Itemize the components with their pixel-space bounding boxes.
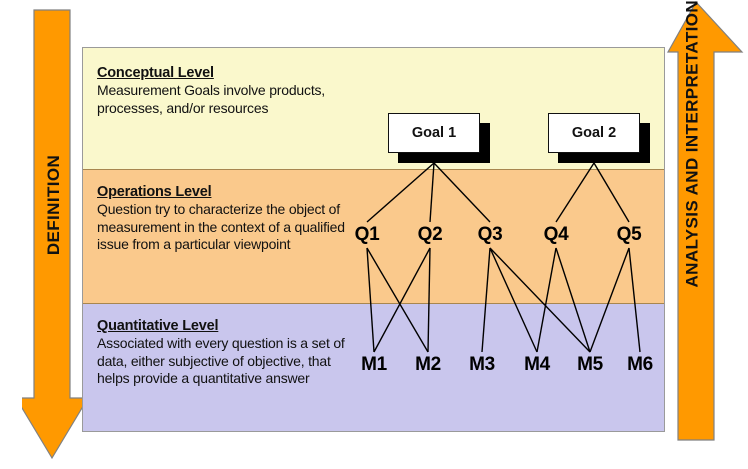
operations-level-body: Question try to characterize the object …: [97, 201, 352, 254]
quantitative-level-title: Quantitative Level: [97, 318, 352, 334]
metric-node-m2[interactable]: M2: [415, 354, 441, 376]
operations-level-text: Operations Level Question try to charact…: [97, 184, 352, 254]
question-node-q4[interactable]: Q4: [544, 224, 569, 246]
metric-node-m6[interactable]: M6: [627, 354, 653, 376]
metric-node-m3[interactable]: M3: [469, 354, 495, 376]
gqm-diagram-canvas: DEFINITION ANALYSIS AND INTERPRETATION C…: [0, 0, 748, 469]
definition-arrow-label: DEFINITION: [44, 150, 64, 260]
goal-1-box[interactable]: Goal 1: [388, 113, 480, 153]
metric-node-m4[interactable]: M4: [524, 354, 550, 376]
quantitative-level-text: Quantitative Level Associated with every…: [97, 318, 352, 388]
metric-node-m5[interactable]: M5: [577, 354, 603, 376]
question-node-q2[interactable]: Q2: [418, 224, 443, 246]
metric-node-m1[interactable]: M1: [361, 354, 387, 376]
goal-2-box[interactable]: Goal 2: [548, 113, 640, 153]
operations-level-title: Operations Level: [97, 184, 352, 200]
conceptual-level-body: Measurement Goals involve products, proc…: [97, 82, 352, 117]
goal-1-label: Goal 1: [412, 125, 456, 141]
question-node-q1[interactable]: Q1: [355, 224, 380, 246]
conceptual-level-title: Conceptual Level: [97, 65, 352, 81]
question-node-q3[interactable]: Q3: [478, 224, 503, 246]
goal-2-label: Goal 2: [572, 125, 616, 141]
analysis-arrow-label: ANALYSIS AND INTERPRETATION: [683, 163, 703, 288]
question-node-q5[interactable]: Q5: [617, 224, 642, 246]
conceptual-level-text: Conceptual Level Measurement Goals invol…: [97, 65, 352, 117]
quantitative-level-body: Associated with every question is a set …: [97, 335, 352, 388]
